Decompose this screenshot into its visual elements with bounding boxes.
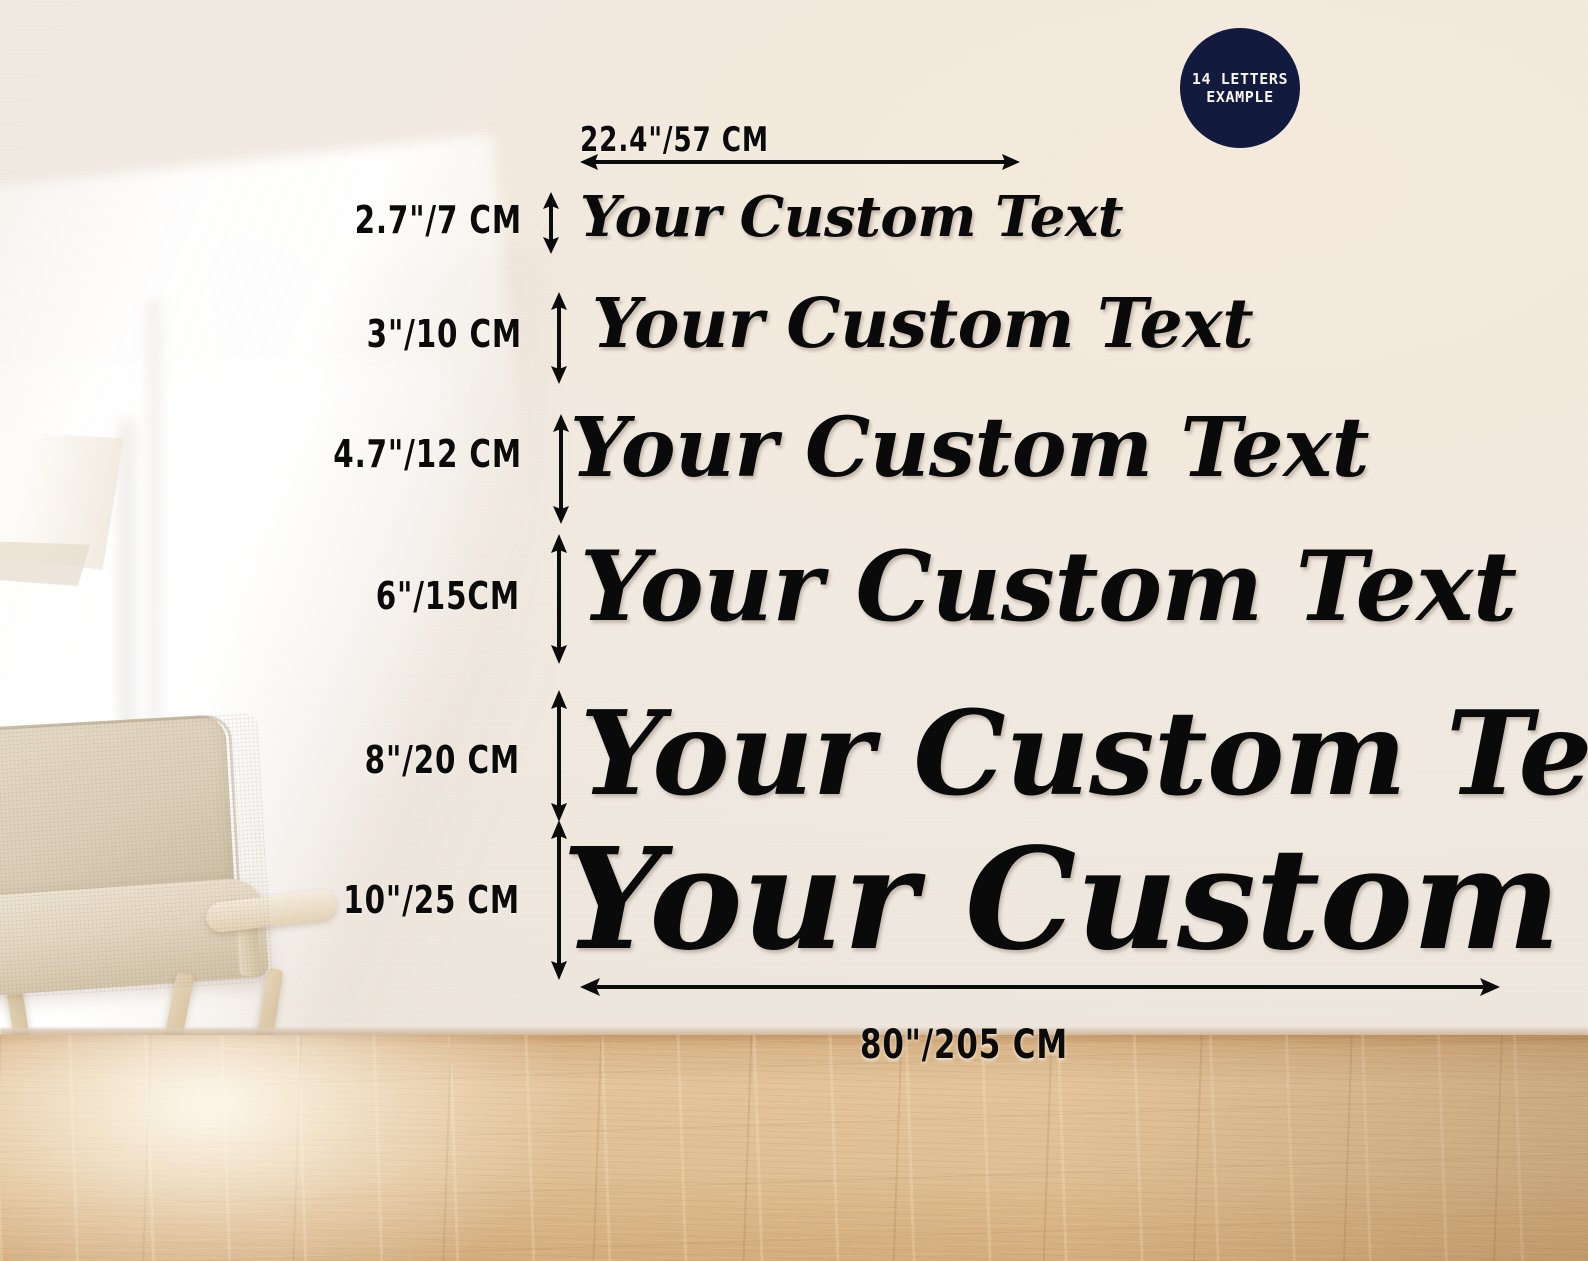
row-2-height-arrow	[548, 292, 570, 384]
wood-floor	[0, 1035, 1588, 1261]
window-frame-shadow	[150, 300, 159, 760]
floor-shadow-right	[1068, 1035, 1588, 1261]
row-1-sample-text: Your Custom Text	[580, 184, 1123, 250]
row-2-sample-text: Your Custom Text	[592, 284, 1253, 364]
row-6-height-label: 10"/25 CM	[73, 878, 520, 922]
badge-line-2: EXAMPLE	[1206, 88, 1273, 106]
wall-decal-size-chart: 14 LETTERS EXAMPLE 22.4"/57 CM 2.7"/7 CM…	[0, 0, 1588, 1261]
row-4-sample-text: Your Custom Text	[580, 530, 1517, 643]
row-3-height-arrow	[550, 414, 572, 524]
row-1-height-label: 2.7"/7 CM	[73, 198, 522, 242]
bottom-width-label: 80"/205 CM	[860, 1022, 1068, 1068]
row-4-height-label: 6"/15CM	[73, 574, 520, 618]
row-3-height-label: 4.7"/12 CM	[73, 432, 522, 476]
letters-example-badge: 14 LETTERS EXAMPLE	[1180, 28, 1300, 148]
row-5-sample-text: Your Custom Text	[580, 686, 1588, 822]
row-4-height-arrow	[548, 534, 570, 664]
row-6-sample-text: Your Custom Text	[562, 818, 1588, 982]
bottom-width-arrow	[580, 975, 1500, 999]
row-2-height-label: 3"/10 CM	[73, 312, 522, 356]
row-5-height-label: 8"/20 CM	[73, 738, 520, 782]
row-5-height-arrow	[548, 690, 570, 822]
badge-line-1: 14 LETTERS	[1192, 70, 1288, 88]
row-1-height-arrow	[540, 192, 562, 254]
floor-sunlight-patch	[0, 1035, 580, 1261]
top-width-arrow	[580, 150, 1020, 174]
row-3-sample-text: Your Custom Text	[570, 400, 1369, 496]
